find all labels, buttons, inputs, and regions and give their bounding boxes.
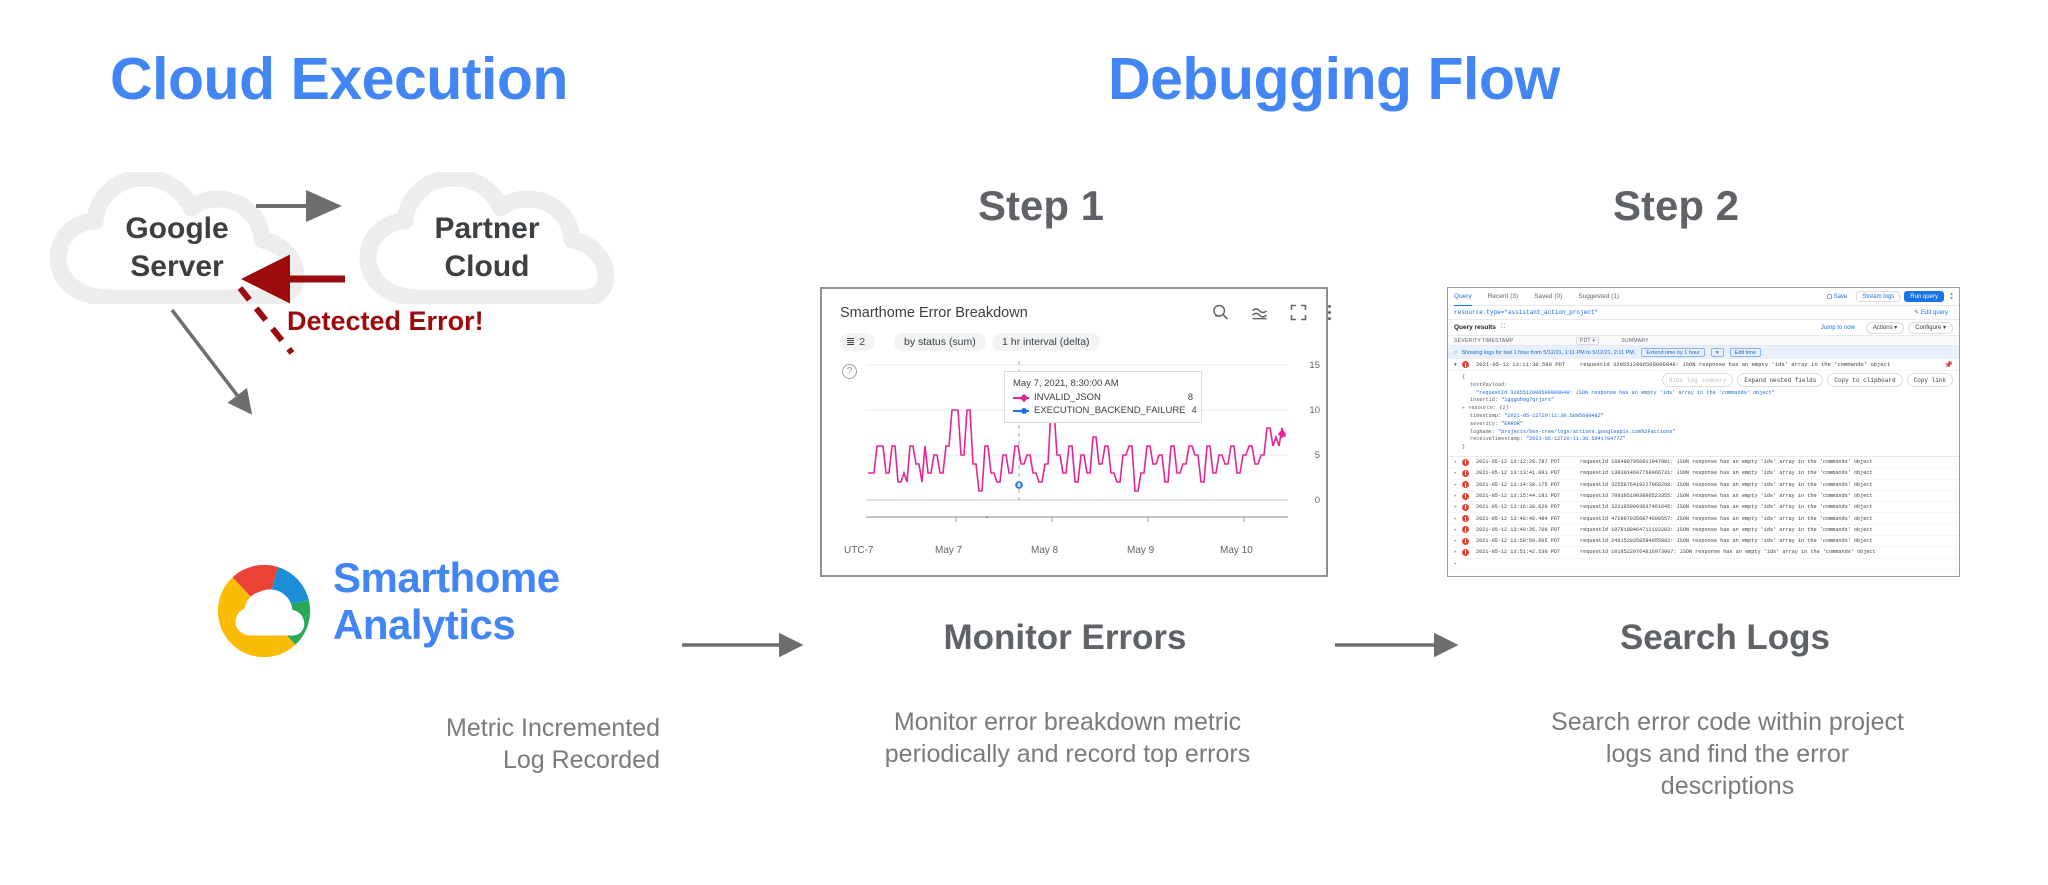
x-tick-may10: May 10 [1220,545,1253,556]
filter-icon: ≣ [846,337,855,348]
log-row[interactable]: ▸ 2021-05-12 13:15:44.181 PDT requestId … [1448,491,1959,502]
expand-caret-icon[interactable]: ▸ [1454,470,1462,476]
left-caption: Metric Incremented Log Recorded [300,712,660,776]
y-tick-5: 5 [1315,450,1320,461]
edit-time-button[interactable]: Edit time [1730,348,1761,357]
log-summary: requestId 3221859903037461645: JSON resp… [1580,504,1953,510]
stream-logs-button[interactable]: Stream logs [1856,291,1900,302]
log-summary: requestId 1078109464712103203: JSON resp… [1580,527,1953,533]
x-tick-may7: May 7 [935,545,962,556]
log-detail-json: Hide log summary Expand nested fields Co… [1448,371,1959,457]
cloud-shape-icon [358,172,616,304]
severity-error-icon [1462,538,1469,545]
severity-error-icon [1462,493,1469,500]
hide-log-summary-button[interactable]: Hide log summary [1662,373,1734,387]
monitoring-chart-card[interactable]: Smarthome Error Breakdown ≣ 2 by status … [820,287,1328,577]
logs-explorer-card[interactable]: Query Recent (3) Saved (0) Suggested (1)… [1447,287,1960,577]
expanded-row-timestamp: 2021-05-12 13:11:30.580 PDT [1476,361,1580,368]
col-summary: SUMMARY [1621,338,1649,344]
actions-button[interactable]: Actions ▾ [1866,322,1904,334]
expanded-row-summary: requestId 3295512006509006048: JSON resp… [1580,361,1944,368]
col-timestamp: TIMESTAMP [1482,338,1576,344]
zoom-query-icon[interactable] [1210,302,1231,323]
legend-swatch-invalid-json [1013,394,1029,402]
info-icon: ○ [1454,350,1457,356]
filter-count-value: 2 [859,336,865,348]
step-1-label: Step 1 [978,182,1104,230]
tab-saved[interactable]: Saved (0) [1534,288,1562,306]
severity-error-icon [1462,459,1469,466]
expand-caret-icon[interactable]: ▸ [1454,482,1462,488]
expand-caret-icon[interactable]: ▸ [1454,504,1462,510]
collapse-caret-icon[interactable]: ▾ [1454,362,1462,368]
extend-time-dropdown-icon[interactable]: ▾ [1711,348,1724,357]
log-detail-actions: Hide log summary Expand nested fields Co… [1658,373,1953,387]
pencil-icon: ✎ [1914,309,1919,316]
copy-to-clipboard-button[interactable]: Copy to clipboard [1827,373,1902,387]
detail-line: severity: "ERROR" [1462,421,1953,429]
detail-line: "requestId 3295512006509006048: JSON res… [1462,390,1953,398]
x-tick-may9: May 9 [1127,545,1154,556]
log-timestamp: 2021-05-12 13:51:42.530 PDT [1476,549,1580,555]
expand-caret-icon[interactable]: ▸ [1454,549,1462,555]
chip-interval[interactable]: 1 hr interval (delta) [992,333,1100,351]
slide-canvas: Cloud Execution Debugging Flow Step 1 St… [0,0,2048,885]
x-tick-utc: UTC-7 [844,545,873,556]
expand-icon[interactable] [1288,302,1309,323]
logs-tab-bar: Query Recent (3) Saved (0) Suggested (1)… [1448,288,1959,306]
log-row[interactable]: ▸ 2021-05-12 13:50:50.605 PDT requestId … [1448,536,1959,547]
log-summary: requestId 2461529358594055992: JSON resp… [1580,538,1953,544]
flow-step2-title: Search Logs [1570,618,1880,658]
tab-recent[interactable]: Recent (3) [1488,288,1518,306]
edit-query-button[interactable]: ✎ Edit query [1909,308,1953,318]
expand-caret-icon[interactable]: ▸ [1454,493,1462,499]
x-axis-ticks [956,517,1244,522]
log-timestamp: 2021-05-12 13:16:38.620 PDT [1476,504,1580,510]
tooltip-timestamp: May 7, 2021, 8:30:00 AM [1013,378,1193,389]
log-timestamp: 2021-05-12 13:48:48.484 PDT [1476,516,1580,522]
log-row[interactable]: ▸ 2021-05-12 13:14:38.175 PDT requestId … [1448,480,1959,491]
banner-text: Showing logs for last 1 hour from 5/12/2… [1461,350,1635,356]
cloud-shape-icon [48,172,306,304]
y-tick-10: 10 [1309,405,1320,416]
google-server-cloud: Google Server [48,172,306,304]
legend-swatch-execution-backend-failure [1013,407,1029,415]
log-timestamp: 2021-05-12 13:50:50.605 PDT [1476,538,1580,544]
save-icon [1827,294,1832,299]
query-text: resource.type="assistant_action_project" [1454,309,1905,316]
pin-icon[interactable]: 📌 [1944,361,1953,369]
log-row[interactable]: ▸ 2021-05-12 13:48:48.484 PDT requestId … [1448,513,1959,524]
extend-time-button[interactable]: Extend time by 1 hour [1641,348,1705,357]
copy-link-button[interactable]: Copy link [1907,373,1953,387]
time-range-banner: ○ Showing logs for last 1 hour from 5/12… [1448,346,1959,359]
page-title-debugging-flow: Debugging Flow [1108,45,1560,113]
log-row[interactable]: ▸ 2021-05-12 13:51:42.530 PDT requestId … [1448,547,1959,558]
log-timestamp: 2021-05-12 13:15:44.181 PDT [1476,493,1580,499]
detail-line: timestamp: "2021-05-12T20:11:30.58056804… [1462,413,1953,421]
y-tick-0: 0 [1315,495,1320,506]
log-timestamp: 2021-05-12 13:14:38.175 PDT [1476,482,1580,488]
logs-column-headers: SEVERITY TIMESTAMP PDT ▾ SUMMARY [1448,336,1959,346]
severity-error-icon [1462,481,1469,488]
step-2-label: Step 2 [1613,182,1739,230]
save-button[interactable]: Save [1822,292,1853,301]
col-severity: SEVERITY [1454,338,1482,344]
log-row[interactable]: ▸ 2021-05-12 13:49:35.700 PDT requestId … [1448,525,1959,536]
expanded-log-row[interactable]: ▾ 2021-05-12 13:11:30.580 PDT requestId … [1448,359,1959,371]
configure-button[interactable]: Configure ▾ [1908,322,1953,334]
tab-query[interactable]: Query [1454,288,1472,306]
query-editor-row[interactable]: resource.type="assistant_action_project"… [1448,306,1959,320]
run-query-button[interactable]: Run query [1904,291,1944,302]
x-tick-may8: May 8 [1031,545,1058,556]
log-summary: requestId 10185220764816073007: JSON res… [1580,549,1953,555]
arrow-server-to-analytics [172,310,250,412]
partner-cloud: Partner Cloud [358,172,616,304]
expand-caret-icon[interactable]: ▸ [1454,538,1462,544]
log-summary: requestId 3255876419227068268: JSON resp… [1580,482,1953,488]
expand-caret-icon[interactable]: ▸ [1454,527,1462,533]
log-timestamp: 2021-05-12 13:13:41.081 PDT [1476,470,1580,476]
severity-error-icon [1462,549,1469,556]
detail-line[interactable]: ▸ resource: {2} [1462,405,1953,413]
log-row[interactable]: ▸ 2021-05-12 13:12:28.787 PDT requestId … [1448,457,1959,468]
log-row[interactable]: ▸ 2021-05-12 13:16:38.620 PDT requestId … [1448,502,1959,513]
log-summary: requestId 7093951003890523355: JSON resp… [1580,493,1953,499]
collapse-toggle-icon[interactable]: ▴▾ [1950,292,1953,302]
expand-caret-icon[interactable]: ▸ [1454,459,1462,465]
log-rows-list: ▸ 2021-05-12 13:12:28.787 PDT requestId … [1448,457,1959,570]
log-timestamp: 2021-05-12 13:12:28.787 PDT [1476,459,1580,465]
jump-to-now-button[interactable]: Jump to now [1814,322,1862,333]
more-vert-icon[interactable] [1319,302,1340,323]
expand-nested-fields-button[interactable]: Expand nested fields [1737,373,1823,387]
detected-error-label: Detected Error! [287,306,484,337]
chip-filter-count[interactable]: ≣ 2 [840,333,875,351]
y-tick-15: 15 [1309,360,1320,371]
detail-line: } [1462,444,1953,452]
chip-group-by-status[interactable]: by status (sum) [894,333,986,351]
severity-error-icon [1462,515,1469,522]
smarthome-analytics-label: Smarthome Analytics [333,554,560,648]
log-row-partial[interactable]: ▸ [1448,559,1959,570]
severity-error-icon [1462,470,1469,477]
log-summary: requestId 1383014697768966731: JSON resp… [1580,470,1953,476]
detail-line: logName: "projects/ben-tree/logs/actions… [1462,429,1953,437]
log-summary: requestId 4728970356074000557: JSON resp… [1580,516,1953,522]
chart-title: Smarthome Error Breakdown [840,305,1028,321]
expand-caret-icon[interactable]: ▸ [1454,561,1462,567]
col-timezone-select[interactable]: PDT ▾ [1576,337,1599,345]
severity-error-icon [1462,361,1469,368]
query-results-title: Query results [1454,324,1496,331]
flow-step1-caption: Monitor error breakdown metric periodica… [880,706,1255,770]
flow-step1-title: Monitor Errors [910,618,1220,658]
detail-line: insertId: "1gqguh9g7qrjzrs" [1462,397,1953,405]
metric-lines-icon[interactable] [1249,302,1270,323]
log-summary: requestId 1684907950811947981: JSON resp… [1580,459,1953,465]
google-cloud-logo-icon [205,557,323,665]
tooltip-row-execution-backend-failure: EXECUTION_BACKEND_FAILURE 4 [1013,405,1193,416]
log-row[interactable]: ▸ 2021-05-12 13:13:41.081 PDT requestId … [1448,468,1959,479]
tooltip-row-invalid-json: INVALID_JSON 8 [1013,392,1193,403]
tab-suggested[interactable]: Suggested (1) [1578,288,1619,306]
log-timestamp: 2021-05-12 13:49:35.700 PDT [1476,527,1580,533]
severity-error-icon [1462,504,1469,511]
detail-line: receiveTimestamp: "2021-05-12T20:11:30.5… [1462,436,1953,444]
expand-caret-icon[interactable]: ▸ [1454,516,1462,522]
smarthome-analytics-brand: Smarthome Analytics [205,552,625,672]
expand-results-icon[interactable]: ⛶ [1501,324,1505,331]
flow-step2-caption: Search error code within project logs an… [1540,706,1915,802]
severity-error-icon [1462,526,1469,533]
query-results-row: Query results ⛶ Jump to now Actions ▾ Co… [1448,320,1959,336]
chart-tooltip: May 7, 2021, 8:30:00 AM INVALID_JSON 8 E… [1004,371,1202,423]
page-title-cloud-execution: Cloud Execution [110,45,568,113]
